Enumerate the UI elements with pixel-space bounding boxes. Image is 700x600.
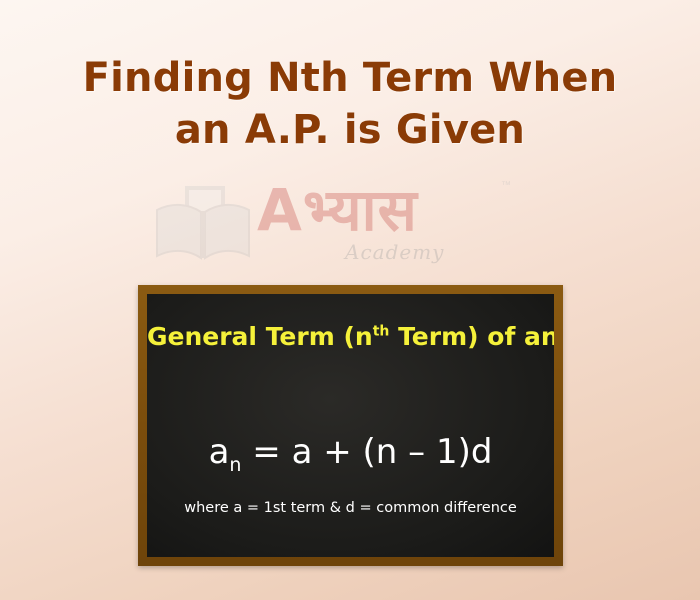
blackboard: General Term (nth Term) of an AP an = a … xyxy=(147,294,554,557)
heading-suffix: Term) of an AP xyxy=(389,322,554,351)
blackboard-formula: an = a + (n – 1)d xyxy=(147,432,554,476)
watermark-logo: Aभ्यास Academy ™ xyxy=(155,178,555,283)
heading-superscript: th xyxy=(373,324,390,340)
formula-prefix: a xyxy=(209,432,230,472)
formula-subscript: n xyxy=(229,454,241,476)
blackboard-heading: General Term (nth Term) of an AP xyxy=(147,322,554,351)
heading-prefix: General Term (n xyxy=(147,322,373,351)
page-canvas: Finding Nth Term When an A.P. is Given A… xyxy=(0,0,700,600)
open-book-icon xyxy=(155,184,251,264)
blackboard-note: where a = 1st term & d = common differen… xyxy=(147,500,554,516)
page-title: Finding Nth Term When an A.P. is Given xyxy=(0,52,700,156)
trademark-symbol: ™ xyxy=(501,180,511,191)
watermark-brand: Aभ्यास xyxy=(257,174,557,254)
blackboard-frame: General Term (nth Term) of an AP an = a … xyxy=(138,285,563,566)
page-title-line-1: Finding Nth Term When xyxy=(0,52,700,104)
formula-suffix: = a + (n – 1)d xyxy=(241,432,492,472)
watermark-subtext: Academy xyxy=(345,240,444,264)
page-title-line-2: an A.P. is Given xyxy=(0,104,700,156)
